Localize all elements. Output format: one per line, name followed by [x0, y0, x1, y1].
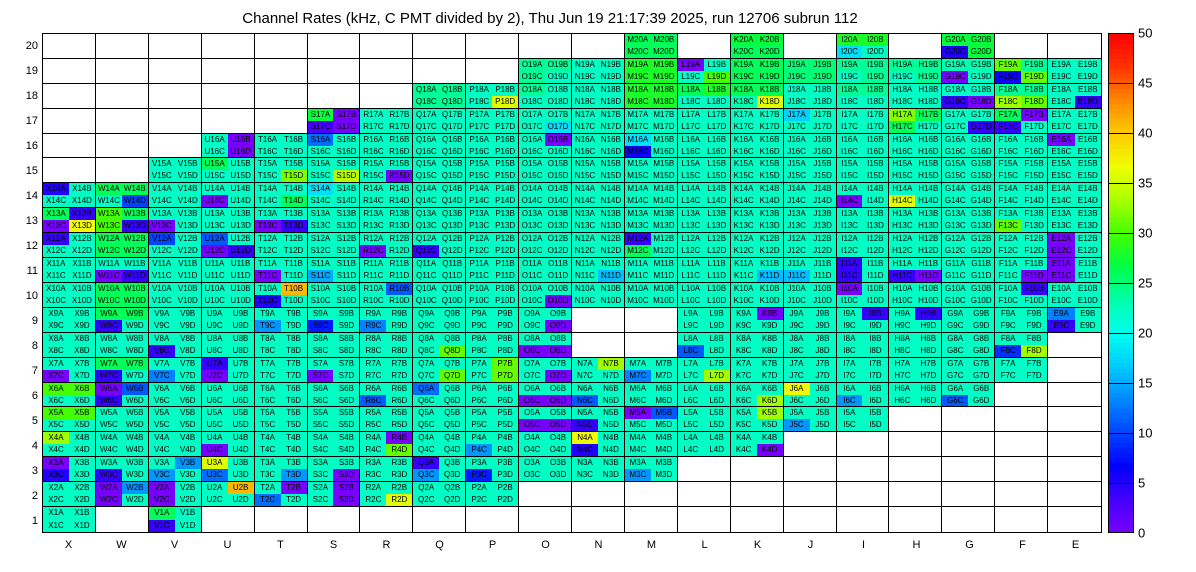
subchannel-V8C: V8C	[149, 345, 175, 357]
subchannel-I7A: I7A	[837, 358, 863, 370]
heatmap-cell-M17: M17AM17BM17CM17D	[625, 109, 678, 134]
subchannel-Q10C: Q10C	[413, 295, 439, 307]
subchannel-U13D: U13D	[228, 220, 254, 232]
heatmap-cell-V11: V11AV11BV11CV11D	[149, 258, 202, 283]
subchannel-K1C	[731, 520, 757, 532]
heatmap-cell-V7: V7AV7BV7CV7D	[149, 358, 202, 383]
heatmap-cell-K13: K13AK13BK13CK13D	[731, 208, 784, 233]
subchannel-G5B	[968, 407, 994, 419]
subchannel-P14D: P14D	[492, 195, 518, 207]
subchannel-J13C: J13C	[784, 220, 810, 232]
subchannel-Q6A: Q6A	[413, 383, 439, 395]
heatmap-cell-L17: L17AL17BL17CL17D	[678, 109, 731, 134]
heatmap-cell-L7: L7AL7BL7CL7D	[678, 358, 731, 383]
subchannel-E3C	[1048, 469, 1074, 481]
subchannel-M11D: M11D	[651, 270, 677, 282]
subchannel-G14B: G14B	[968, 183, 994, 195]
x-axis-tick-J: J	[784, 539, 837, 551]
subchannel-E8A	[1048, 333, 1074, 345]
subchannel-J9C: J9C	[784, 320, 810, 332]
heatmap-cell-K10: K10AK10BK10CK10D	[731, 283, 784, 308]
subchannel-O1A	[519, 507, 545, 519]
heatmap-cell-N6: N6AN6BN6CN6D	[572, 383, 625, 408]
subchannel-K9B: K9B	[757, 308, 783, 320]
heatmap-cell-X10: X10AX10BX10CX10D	[43, 283, 96, 308]
subchannel-T19C	[255, 71, 281, 83]
subchannel-U19C	[202, 71, 228, 83]
subchannel-G6A: G6A	[942, 383, 968, 395]
subchannel-L15A: L15A	[678, 158, 704, 170]
subchannel-K19D: K19D	[757, 71, 783, 83]
subchannel-E1A	[1048, 507, 1074, 519]
subchannel-J4A	[784, 432, 810, 444]
heatmap-cell-T8: T8AT8BT8CT8D	[255, 333, 308, 358]
subchannel-V8B: V8B	[175, 333, 201, 345]
subchannel-V10B: V10B	[175, 283, 201, 295]
subchannel-P4A: P4A	[466, 432, 492, 444]
subchannel-H20C	[889, 46, 915, 58]
subchannel-P13B: P13B	[492, 208, 518, 220]
subchannel-Q17C: Q17C	[413, 121, 439, 133]
subchannel-T18D	[281, 96, 307, 108]
subchannel-K5D: K5D	[757, 419, 783, 431]
y-axis-tick-15: 15	[4, 165, 38, 177]
heatmap-cell-S9: S9AS9BS9CS9D	[308, 308, 361, 333]
subchannel-O18C: O18C	[519, 96, 545, 108]
subchannel-U3C: U3C	[202, 469, 228, 481]
subchannel-U20A	[202, 34, 228, 46]
heatmap-cell-K2	[731, 482, 784, 507]
heatmap-cell-F13: F13AF13BF13CF13D	[995, 208, 1048, 233]
subchannel-L13A: L13A	[678, 208, 704, 220]
subchannel-G1B	[968, 507, 994, 519]
subchannel-N3D: N3D	[598, 469, 624, 481]
subchannel-E18B: E18B	[1075, 84, 1101, 96]
subchannel-I1C	[837, 520, 863, 532]
subchannel-S10D: S10D	[333, 295, 359, 307]
subchannel-I16B: I16B	[862, 134, 888, 146]
heatmap-cell-H5	[889, 407, 942, 432]
subchannel-F12A: F12A	[995, 233, 1021, 245]
subchannel-U9C: U9C	[202, 320, 228, 332]
subchannel-N16B: N16B	[598, 134, 624, 146]
heatmap-cell-H13: H13AH13BH13CH13D	[889, 208, 942, 233]
subchannel-F2C	[995, 494, 1021, 506]
subchannel-O15C: O15C	[519, 170, 545, 182]
subchannel-I14C: I14C	[837, 195, 863, 207]
subchannel-V20C	[149, 46, 175, 58]
subchannel-M19A: M19A	[625, 59, 651, 71]
subchannel-S11C: S11C	[308, 270, 334, 282]
subchannel-W11C: W11C	[96, 270, 122, 282]
subchannel-O8B: O8B	[545, 333, 571, 345]
y-axis-tick-6: 6	[4, 390, 38, 402]
subchannel-S16D: S16D	[333, 146, 359, 158]
subchannel-K7D: K7D	[757, 370, 783, 382]
subchannel-K1B	[757, 507, 783, 519]
subchannel-V1D: V1D	[175, 520, 201, 532]
subchannel-Q16C: Q16C	[413, 146, 439, 158]
subchannel-L15B: L15B	[704, 158, 730, 170]
heatmap-cell-T19	[255, 59, 308, 84]
subchannel-K3C	[731, 469, 757, 481]
heatmap-cell-H7: H7AH7BH7CH7D	[889, 358, 942, 383]
heatmap-cell-F4	[995, 432, 1048, 457]
heatmap-cell-V12: V12AV12BV12CV12D	[149, 233, 202, 258]
subchannel-G2A	[942, 482, 968, 494]
heatmap-cell-F14: F14AF14BF14CF14D	[995, 183, 1048, 208]
subchannel-P14C: P14C	[466, 195, 492, 207]
subchannel-Q20A	[413, 34, 439, 46]
subchannel-X5B: X5B	[69, 407, 95, 419]
subchannel-J14B: J14B	[810, 183, 836, 195]
subchannel-P3D: P3D	[492, 469, 518, 481]
subchannel-R2D: R2D	[386, 494, 412, 506]
subchannel-I10B: I10B	[862, 283, 888, 295]
subchannel-T10D: T10D	[281, 295, 307, 307]
subchannel-G2C	[942, 494, 968, 506]
subchannel-P8D: P8D	[492, 345, 518, 357]
subchannel-P16A: P16A	[466, 134, 492, 146]
subchannel-L4C: L4C	[678, 444, 704, 456]
subchannel-H11D: H11D	[915, 270, 941, 282]
subchannel-Q3D: Q3D	[439, 469, 465, 481]
heatmap-cell-I16: I16AI16BI16CI16D	[837, 134, 890, 159]
heatmap-cell-R6: R6AR6BR6CR6D	[360, 383, 413, 408]
subchannel-P11A: P11A	[466, 258, 492, 270]
subchannel-H4C	[889, 444, 915, 456]
heatmap-cell-U8: U8AU8BU8CU8D	[202, 333, 255, 358]
subchannel-L10D: L10D	[704, 295, 730, 307]
subchannel-K8C: K8C	[731, 345, 757, 357]
subchannel-G8B: G8B	[968, 333, 994, 345]
heatmap-cell-K16: K16AK16BK16CK16D	[731, 134, 784, 159]
subchannel-S9D: S9D	[333, 320, 359, 332]
subchannel-P19B	[492, 59, 518, 71]
subchannel-J15B: J15B	[810, 158, 836, 170]
subchannel-R4D: R4D	[386, 444, 412, 456]
heatmap-cell-X5: X5AX5BX5CX5D	[43, 407, 96, 432]
subchannel-X1A: X1A	[43, 507, 69, 519]
heatmap-cell-J11: J11AJ11BJ11CJ11D	[784, 258, 837, 283]
subchannel-K15C: K15C	[731, 170, 757, 182]
subchannel-F17C: F17C	[995, 121, 1021, 133]
subchannel-J18C: J18C	[784, 96, 810, 108]
subchannel-X5D: X5D	[69, 419, 95, 431]
heatmap-cell-P10: P10AP10BP10CP10D	[466, 283, 519, 308]
subchannel-P5B: P5B	[492, 407, 518, 419]
subchannel-V3D: V3D	[175, 469, 201, 481]
heatmap-cell-L11: L11AL11BL11CL11D	[678, 258, 731, 283]
subchannel-R15A: R15A	[360, 158, 386, 170]
subchannel-J19C: J19C	[784, 71, 810, 83]
subchannel-M16A: M16A	[625, 134, 651, 146]
subchannel-X17C	[43, 121, 69, 133]
subchannel-Q16D: Q16D	[439, 146, 465, 158]
subchannel-K6D: K6D	[757, 395, 783, 407]
subchannel-F11B: F11B	[1021, 258, 1047, 270]
heatmap-cell-M13: M13AM13BM13CM13D	[625, 208, 678, 233]
subchannel-R20B	[386, 34, 412, 46]
subchannel-Q14C: Q14C	[413, 195, 439, 207]
subchannel-M13C: M13C	[625, 220, 651, 232]
heatmap-cell-R9: R9AR9BR9CR9D	[360, 308, 413, 333]
subchannel-V7A: V7A	[149, 358, 175, 370]
subchannel-T13C: T13C	[255, 220, 281, 232]
subchannel-G16D: G16D	[968, 146, 994, 158]
subchannel-K20B: K20B	[757, 34, 783, 46]
y-axis-tick-12: 12	[4, 240, 38, 252]
subchannel-J20A	[784, 34, 810, 46]
subchannel-W2A: W2A	[96, 482, 122, 494]
heatmap-cell-F10: F10AF10BF10CF10D	[995, 283, 1048, 308]
heatmap-cell-K18: K18AK18BK18CK18D	[731, 84, 784, 109]
heatmap-cell-P4: P4AP4BP4CP4D	[466, 432, 519, 457]
subchannel-Q10D: Q10D	[439, 295, 465, 307]
subchannel-S14B: S14B	[333, 183, 359, 195]
subchannel-O20D	[545, 46, 571, 58]
heatmap-cell-P17: P17AP17BP17CP17D	[466, 109, 519, 134]
subchannel-H12D: H12D	[915, 245, 941, 257]
subchannel-X5A: X5A	[43, 407, 69, 419]
subchannel-W10B: W10B	[122, 283, 148, 295]
subchannel-Q17A: Q17A	[413, 109, 439, 121]
subchannel-M5A: M5A	[625, 407, 651, 419]
subchannel-H7A: H7A	[889, 358, 915, 370]
subchannel-L1C	[678, 520, 704, 532]
x-axis-tick-V: V	[148, 539, 201, 551]
subchannel-H13C: H13C	[889, 220, 915, 232]
subchannel-I18D: I18D	[862, 96, 888, 108]
subchannel-U11A: U11A	[202, 258, 228, 270]
subchannel-M5B: M5B	[651, 407, 677, 419]
heatmap-cell-L2	[678, 482, 731, 507]
heatmap-cell-K1	[731, 507, 784, 532]
subchannel-N18A: N18A	[572, 84, 598, 96]
subchannel-G3C	[942, 469, 968, 481]
subchannel-G16B: G16B	[968, 134, 994, 146]
colorbar-tick-45	[1108, 83, 1134, 84]
subchannel-I8C: I8C	[837, 345, 863, 357]
subchannel-F20C	[995, 46, 1021, 58]
heatmap-cell-V3: V3AV3BV3CV3D	[149, 457, 202, 482]
subchannel-V18C	[149, 96, 175, 108]
subchannel-G9B: G9B	[968, 308, 994, 320]
subchannel-L9C: L9C	[678, 320, 704, 332]
subchannel-O10A: O10A	[519, 283, 545, 295]
heatmap-cell-L9: L9AL9BL9CL9D	[678, 308, 731, 333]
subchannel-U5C: U5C	[202, 419, 228, 431]
subchannel-S15D: S15D	[333, 170, 359, 182]
heatmap-cell-J17: J17AJ17BJ17CJ17D	[784, 109, 837, 134]
heatmap-cell-I5: I5AI5BI5CI5D	[837, 407, 890, 432]
subchannel-T6B: T6B	[281, 383, 307, 395]
subchannel-U13A: U13A	[202, 208, 228, 220]
subchannel-L19B: L19B	[704, 59, 730, 71]
subchannel-G12C: G12C	[942, 245, 968, 257]
subchannel-N15B: N15B	[598, 158, 624, 170]
subchannel-N4C: N4C	[572, 444, 598, 456]
subchannel-N6A: N6A	[572, 383, 598, 395]
subchannel-G8C: G8C	[942, 345, 968, 357]
subchannel-E14A: E14A	[1048, 183, 1074, 195]
subchannel-W8B: W8B	[122, 333, 148, 345]
heatmap-cell-F5	[995, 407, 1048, 432]
subchannel-W16D	[122, 146, 148, 158]
subchannel-X8C: X8C	[43, 345, 69, 357]
subchannel-T19B	[281, 59, 307, 71]
subchannel-L17D: L17D	[704, 121, 730, 133]
subchannel-G2B	[968, 482, 994, 494]
subchannel-L19D: L19D	[704, 71, 730, 83]
subchannel-S20B	[333, 34, 359, 46]
heatmap-cell-M4: M4AM4BM4CM4D	[625, 432, 678, 457]
subchannel-H18C: H18C	[889, 96, 915, 108]
subchannel-W2D: W2D	[122, 494, 148, 506]
heatmap-cell-R2: R2AR2BR2CR2D	[360, 482, 413, 507]
subchannel-H20D	[915, 46, 941, 58]
subchannel-F7A: F7A	[995, 358, 1021, 370]
subchannel-R12C: R12C	[360, 245, 386, 257]
subchannel-W4D: W4D	[122, 444, 148, 456]
heatmap-cell-K19: K19AK19BK19CK19D	[731, 59, 784, 84]
subchannel-T2C: T2C	[255, 494, 281, 506]
subchannel-G17B: G17B	[968, 109, 994, 121]
subchannel-W16C	[96, 146, 122, 158]
subchannel-R16A: R16A	[360, 134, 386, 146]
subchannel-J9D: J9D	[810, 320, 836, 332]
subchannel-V14B: V14B	[175, 183, 201, 195]
subchannel-V20A	[149, 34, 175, 46]
subchannel-L19A: L19A	[678, 59, 704, 71]
colorbar-label-10: 10	[1138, 426, 1152, 441]
subchannel-N16D: N16D	[598, 146, 624, 158]
subchannel-M11A: M11A	[625, 258, 651, 270]
heatmap-cell-T5: T5AT5BT5CT5D	[255, 407, 308, 432]
subchannel-M2C	[625, 494, 651, 506]
subchannel-U9B: U9B	[228, 308, 254, 320]
heatmap-cell-S7: S7AS7BS7CS7D	[308, 358, 361, 383]
subchannel-Q5A: Q5A	[413, 407, 439, 419]
subchannel-W11D: W11D	[122, 270, 148, 282]
subchannel-H8A: H8A	[889, 333, 915, 345]
subchannel-V6B: V6B	[175, 383, 201, 395]
heatmap-cell-E7	[1048, 358, 1101, 383]
heatmap-cell-M8	[625, 333, 678, 358]
subchannel-T3A: T3A	[255, 457, 281, 469]
subchannel-I2A	[837, 482, 863, 494]
subchannel-F19C: F19C	[995, 71, 1021, 83]
heatmap-cell-M18: M18AM18BM18CM18D	[625, 84, 678, 109]
subchannel-K7B: K7B	[757, 358, 783, 370]
colorbar-ticks	[1108, 33, 1134, 533]
colorbar-tick-35	[1108, 183, 1134, 184]
heatmap-cell-R14: R14AR14BR14CR14D	[360, 183, 413, 208]
subchannel-U5D: U5D	[228, 419, 254, 431]
subchannel-W16B	[122, 134, 148, 146]
subchannel-R11C: R11C	[360, 270, 386, 282]
subchannel-L12C: L12C	[678, 245, 704, 257]
heatmap-cell-L15: L15AL15BL15CL15D	[678, 158, 731, 183]
heatmap-cell-W13: W13AW13BW13CW13D	[96, 208, 149, 233]
heatmap-cell-O17: O17AO17BO17CO17D	[519, 109, 572, 134]
subchannel-P2D: P2D	[492, 494, 518, 506]
subchannel-U10B: U10B	[228, 283, 254, 295]
heatmap-cell-K5: K5AK5BK5CK5D	[731, 407, 784, 432]
heatmap-cell-V2: V2AV2BV2CV2D	[149, 482, 202, 507]
subchannel-R13D: R13D	[386, 220, 412, 232]
subchannel-W14D: W14D	[122, 195, 148, 207]
subchannel-N3B: N3B	[598, 457, 624, 469]
subchannel-H16D: H16D	[915, 146, 941, 158]
subchannel-H6C: H6C	[889, 395, 915, 407]
subchannel-I14A: I14A	[837, 183, 863, 195]
subchannel-Q10A: Q10A	[413, 283, 439, 295]
subchannel-N4A: N4A	[572, 432, 598, 444]
subchannel-F10C: F10C	[995, 295, 1021, 307]
subchannel-U1A	[202, 507, 228, 519]
subchannel-P2B: P2B	[492, 482, 518, 494]
subchannel-O2C	[519, 494, 545, 506]
subchannel-K13C: K13C	[731, 220, 757, 232]
subchannel-O7C: O7C	[519, 370, 545, 382]
subchannel-F19B: F19B	[1021, 59, 1047, 71]
subchannel-R14D: R14D	[386, 195, 412, 207]
subchannel-F5D	[1021, 419, 1047, 431]
heatmap-cell-G5	[942, 407, 995, 432]
subchannel-T15C: T15C	[255, 170, 281, 182]
subchannel-S8B: S8B	[333, 333, 359, 345]
subchannel-J4C	[784, 444, 810, 456]
subchannel-R5C: R5C	[360, 419, 386, 431]
subchannel-U16C: U16C	[202, 146, 228, 158]
subchannel-V18D	[175, 96, 201, 108]
heatmap-cell-Q16: Q16AQ16BQ16CQ16D	[413, 134, 466, 159]
subchannel-Q13A: Q13A	[413, 208, 439, 220]
x-axis-tick-N: N	[572, 539, 625, 551]
subchannel-U14A: U14A	[202, 183, 228, 195]
subchannel-T6C: T6C	[255, 395, 281, 407]
subchannel-O6D: O6D	[545, 395, 571, 407]
subchannel-U2C: U2C	[202, 494, 228, 506]
subchannel-F12D: F12D	[1021, 245, 1047, 257]
heatmap-cell-X1: X1AX1BX1CX1D	[43, 507, 96, 532]
colorbar-tick-25	[1108, 283, 1134, 284]
heatmap-cell-W15	[96, 158, 149, 183]
subchannel-O3B: O3B	[545, 457, 571, 469]
subchannel-U8B: U8B	[228, 333, 254, 345]
subchannel-H1C	[889, 520, 915, 532]
heatmap-cell-J13: J13AJ13BJ13CJ13D	[784, 208, 837, 233]
heatmap-cell-I10: I10AI10BI10CI10D	[837, 283, 890, 308]
subchannel-M3C: M3C	[625, 469, 651, 481]
subchannel-S5C: S5C	[308, 419, 334, 431]
subchannel-Q20B	[439, 34, 465, 46]
heatmap-cell-N12: N12AN12BN12CN12D	[572, 233, 625, 258]
subchannel-L13D: L13D	[704, 220, 730, 232]
subchannel-M2D	[651, 494, 677, 506]
heatmap-cell-E19: E19AE19BE19CE19D	[1048, 59, 1101, 84]
subchannel-W2C: W2C	[96, 494, 122, 506]
subchannel-J9B: J9B	[810, 308, 836, 320]
subchannel-M8B	[651, 333, 677, 345]
subchannel-W1C	[96, 520, 122, 532]
heatmap-cell-J4	[784, 432, 837, 457]
subchannel-R19D	[386, 71, 412, 83]
subchannel-I5D: I5D	[862, 419, 888, 431]
subchannel-E5A	[1048, 407, 1074, 419]
heatmap-cell-I19: I19AI19BI19CI19D	[837, 59, 890, 84]
